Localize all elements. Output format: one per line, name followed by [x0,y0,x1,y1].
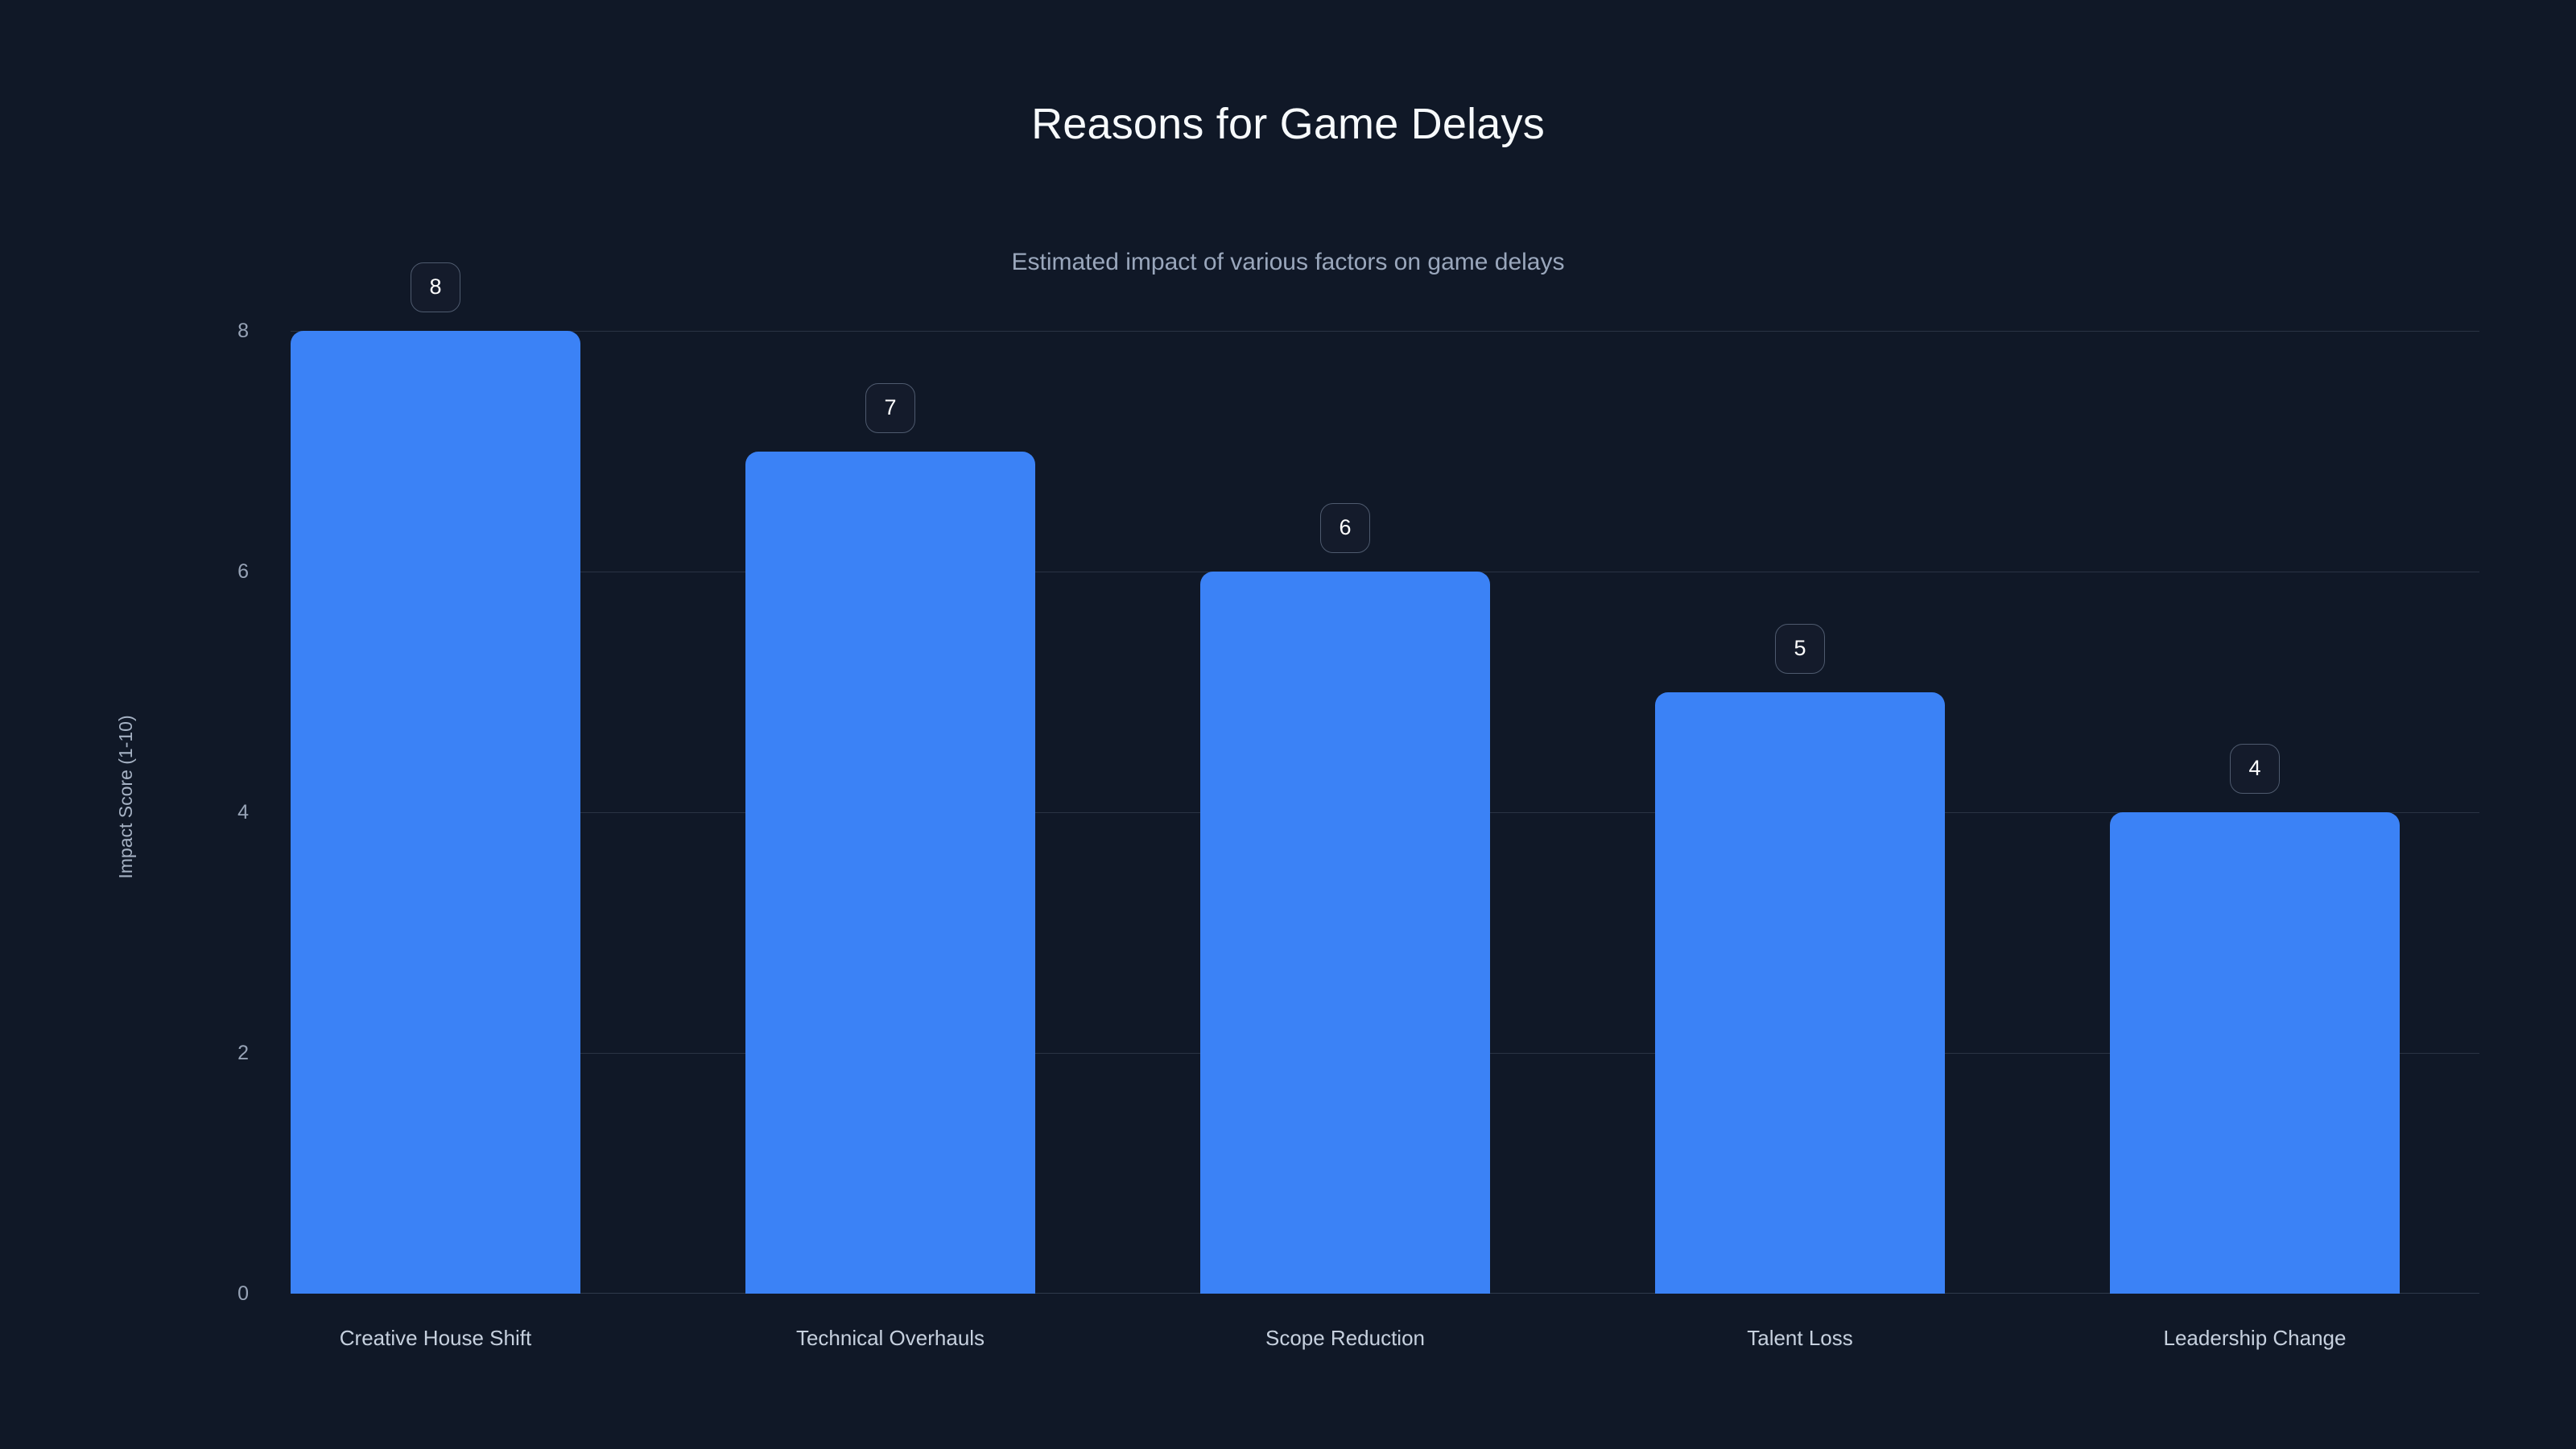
y-axis-ticks: 8 6 4 2 0 [176,331,249,1294]
bar-creative-house-shift[interactable] [291,331,580,1294]
bar-technical-overhauls[interactable] [745,452,1035,1294]
chart-title: Reasons for Game Delays [0,98,2576,150]
x-tick-label-4: Leadership Change [2110,1323,2400,1353]
bar-group-3: 5 [1655,331,1945,1294]
value-badge-1: 7 [865,383,915,433]
bar-group-1: 7 [745,331,1035,1294]
value-badge-0: 8 [411,262,460,312]
bar-leadership-change[interactable] [2110,812,2400,1294]
bar-group-2: 6 [1200,331,1490,1294]
bar-chart-canvas: Reasons for Game Delays Estimated impact… [0,0,2576,1449]
chart-subtitle: Estimated impact of various factors on g… [0,246,2576,279]
bar-scope-reduction[interactable] [1200,572,1490,1294]
y-tick-label-4: 4 [176,800,249,824]
y-tick-label-0: 0 [176,1282,249,1306]
x-tick-label-2: Scope Reduction [1200,1323,1490,1353]
value-badge-4: 4 [2230,744,2280,794]
x-tick-label-0: Creative House Shift [291,1323,580,1353]
y-axis-title: Impact Score (1-10) [109,676,142,918]
bar-group-0: 8 [291,331,580,1294]
value-badge-3: 5 [1775,624,1825,674]
bars-layer: 8 7 6 5 4 [291,331,2479,1294]
y-tick-label-6: 6 [176,559,249,584]
x-tick-label-3: Talent Loss [1655,1323,1945,1353]
bar-group-4: 4 [2110,331,2400,1294]
bar-talent-loss[interactable] [1655,692,1945,1294]
y-tick-label-2: 2 [176,1041,249,1065]
value-badge-2: 6 [1320,503,1370,553]
x-tick-label-1: Technical Overhauls [745,1323,1035,1353]
x-axis-labels: Creative House Shift Technical Overhauls… [291,1323,2479,1355]
y-tick-label-8: 8 [176,319,249,343]
